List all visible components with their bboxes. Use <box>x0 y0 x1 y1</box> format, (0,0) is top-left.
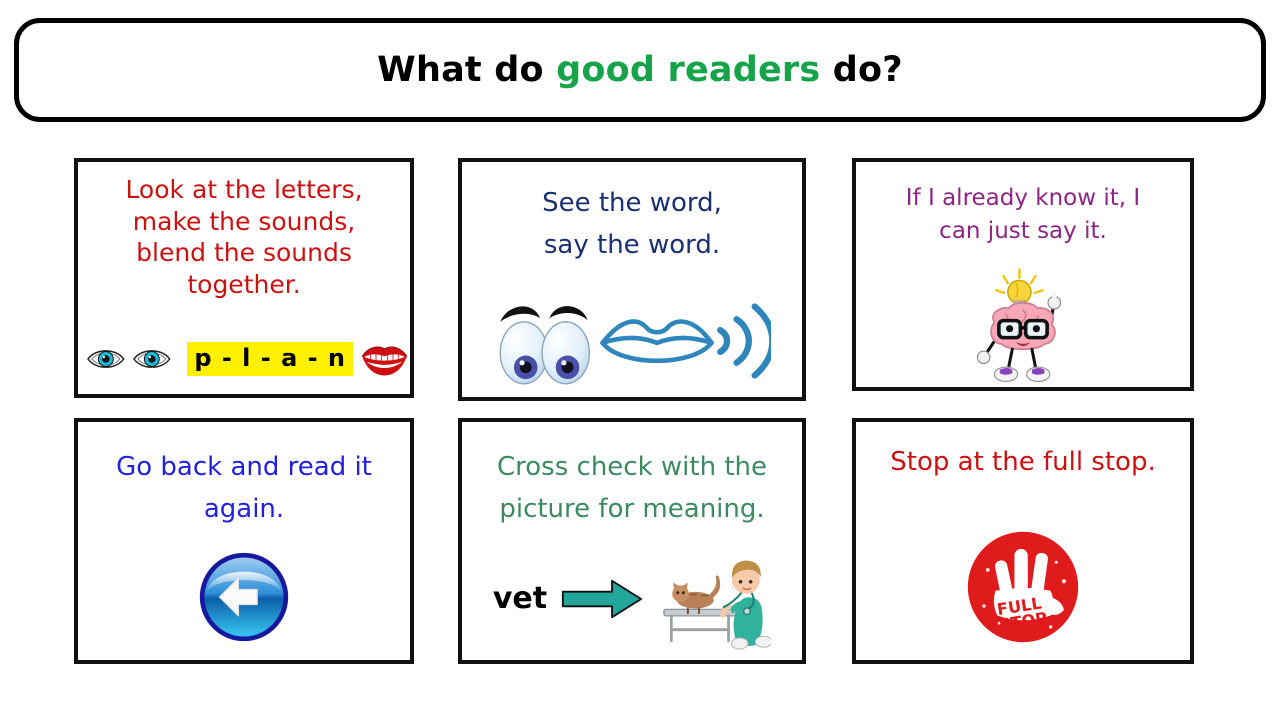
title-suffix: do? <box>820 50 902 90</box>
card-2-line-1: See the word, <box>470 182 794 224</box>
card-5-line-2: picture for meaning. <box>470 488 794 530</box>
card-5-text: Cross check with the picture for meaning… <box>462 422 802 530</box>
example-word: vet <box>493 581 547 616</box>
card-3-line-2: can just say it. <box>864 215 1182 248</box>
card-3-line-1: If I already know it, I <box>864 182 1182 215</box>
red-lips-icon <box>359 333 410 385</box>
blue-lips-icon <box>597 302 717 380</box>
full-stop-hand-icon: FULL STOP <box>961 528 1085 646</box>
title-prefix: What do <box>377 50 556 90</box>
card-1-text: Look at the letters, make the sounds, bl… <box>78 162 410 300</box>
strategy-card-see-the-word-say-the-word: See the word, say the word. <box>458 158 806 401</box>
card-1-illustration: p - l - a - n <box>78 330 410 388</box>
back-arrow-button-icon[interactable] <box>197 550 291 644</box>
vet-person-icon <box>723 560 771 649</box>
card-4-line-1: Go back and read it <box>86 446 402 488</box>
strategy-card-stop-at-the-full-stop: Stop at the full stop. FULL STOP <box>852 418 1194 664</box>
card-2-line-2: say the word. <box>470 224 794 266</box>
card-3-text: If I already know it, I can just say it. <box>856 162 1190 249</box>
card-6-text: Stop at the full stop. <box>856 422 1190 479</box>
card-6-line-1: Stop at the full stop. <box>864 446 1182 479</box>
eye-icon <box>86 339 126 379</box>
card-3-illustration <box>856 267 1190 385</box>
eye-icon <box>132 339 172 379</box>
cartoon-eyes-icon <box>493 291 593 391</box>
card-1-line-2: make the sounds, <box>86 206 402 238</box>
title-accent: good readers <box>556 50 820 90</box>
strategy-card-go-back-and-read-it-again: Go back and read it again. <box>74 418 414 664</box>
card-5-line-1: Cross check with the <box>470 446 794 488</box>
cat-icon <box>672 576 720 614</box>
shoes <box>994 367 1049 381</box>
card-1-line-1: Look at the letters, <box>86 174 402 206</box>
vet-with-cat-icon <box>651 552 771 652</box>
page-title: What do good readers do? <box>377 50 903 90</box>
strategy-card-if-i-already-know-it: If I already know it, I can just say it. <box>852 158 1194 391</box>
card-6-illustration: FULL STOP <box>856 522 1190 652</box>
card-4-text: Go back and read it again. <box>78 422 410 530</box>
card-5-illustration: vet <box>462 550 802 654</box>
card-4-line-2: again. <box>86 488 402 530</box>
card-2-illustration <box>462 288 802 393</box>
title-banner: What do good readers do? <box>14 18 1266 122</box>
sound-waves-icon <box>713 293 771 389</box>
card-1-line-3: blend the sounds <box>86 237 402 269</box>
strategy-card-look-at-the-letters: Look at the letters, make the sounds, bl… <box>74 158 414 398</box>
segmented-word-chip: p - l - a - n <box>187 342 353 376</box>
card-4-illustration <box>78 548 410 646</box>
card-2-text: See the word, say the word. <box>462 162 802 266</box>
right-arrow-icon <box>561 577 643 621</box>
brain-character-icon <box>969 267 1077 385</box>
card-1-line-4: together. <box>86 269 402 301</box>
strategy-card-cross-check-with-the-picture: Cross check with the picture for meaning… <box>458 418 806 664</box>
